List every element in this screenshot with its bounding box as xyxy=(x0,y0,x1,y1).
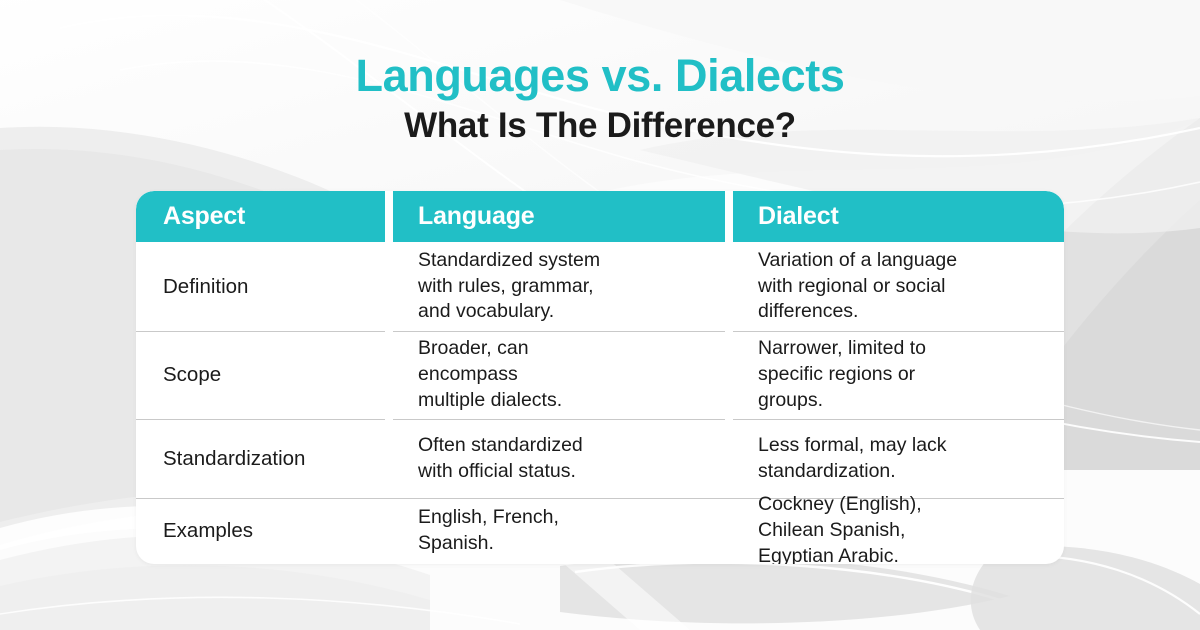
table-row: Examples English, French, Spanish. Cockn… xyxy=(136,498,1064,564)
cell-text: Broader, can encompass multiple dialects… xyxy=(418,336,725,413)
column-header-label: Aspect xyxy=(163,204,245,229)
column-header-label: Dialect xyxy=(758,204,839,229)
cell-aspect: Definition xyxy=(136,242,385,331)
title-block: Languages vs. Dialects What Is The Diffe… xyxy=(0,52,1200,145)
cell-text: Definition xyxy=(163,273,385,300)
row-gutter xyxy=(385,419,393,498)
page-title: Languages vs. Dialects xyxy=(0,52,1200,101)
cell-dialect: Narrower, limited to specific regions or… xyxy=(733,331,1064,419)
table-row: Standardization Often standardized with … xyxy=(136,419,1064,498)
infographic-canvas: Languages vs. Dialects What Is The Diffe… xyxy=(0,0,1200,630)
cell-language: English, French, Spanish. xyxy=(393,498,725,564)
column-header-language: Language xyxy=(393,191,725,242)
row-gutter xyxy=(385,331,393,419)
table-row: Scope Broader, can encompass multiple di… xyxy=(136,331,1064,419)
column-header-aspect: Aspect xyxy=(136,191,385,242)
row-gutter xyxy=(385,242,393,331)
cell-text: English, French, Spanish. xyxy=(418,505,725,556)
cell-language: Broader, can encompass multiple dialects… xyxy=(393,331,725,419)
cell-text: Cockney (English), Chilean Spanish, Egyp… xyxy=(758,492,1064,564)
cell-text: Scope xyxy=(163,361,385,388)
row-gutter xyxy=(725,331,733,419)
cell-text: Examples xyxy=(163,517,385,544)
table-body: Definition Standardized system with rule… xyxy=(136,242,1064,564)
cell-text: Often standardized with official status. xyxy=(418,433,725,484)
row-gutter xyxy=(725,419,733,498)
cell-text: Less formal, may lack standardization. xyxy=(758,433,1064,484)
cell-aspect: Scope xyxy=(136,331,385,419)
header-gutter-2 xyxy=(725,191,733,242)
column-header-dialect: Dialect xyxy=(733,191,1064,242)
cell-aspect: Examples xyxy=(136,498,385,564)
row-gutter xyxy=(385,498,393,564)
table-header-row: Aspect Language Dialect xyxy=(136,191,1064,242)
cell-text: Narrower, limited to specific regions or… xyxy=(758,336,1064,413)
cell-text: Standardization xyxy=(163,445,385,472)
table-row: Definition Standardized system with rule… xyxy=(136,242,1064,331)
cell-aspect: Standardization xyxy=(136,419,385,498)
cell-dialect: Variation of a language with regional or… xyxy=(733,242,1064,331)
page-subtitle: What Is The Difference? xyxy=(0,107,1200,146)
column-header-label: Language xyxy=(418,204,534,229)
header-gutter-1 xyxy=(385,191,393,242)
row-gutter xyxy=(725,242,733,331)
comparison-table: Aspect Language Dialect Definition xyxy=(136,191,1064,564)
cell-language: Standardized system with rules, grammar,… xyxy=(393,242,725,331)
cell-text: Standardized system with rules, grammar,… xyxy=(418,248,725,325)
cell-text: Variation of a language with regional or… xyxy=(758,248,1064,325)
cell-language: Often standardized with official status. xyxy=(393,419,725,498)
row-gutter xyxy=(725,498,733,564)
cell-dialect: Cockney (English), Chilean Spanish, Egyp… xyxy=(733,498,1064,564)
comparison-table-card: Aspect Language Dialect Definition xyxy=(136,191,1064,564)
cell-dialect: Less formal, may lack standardization. xyxy=(733,419,1064,498)
